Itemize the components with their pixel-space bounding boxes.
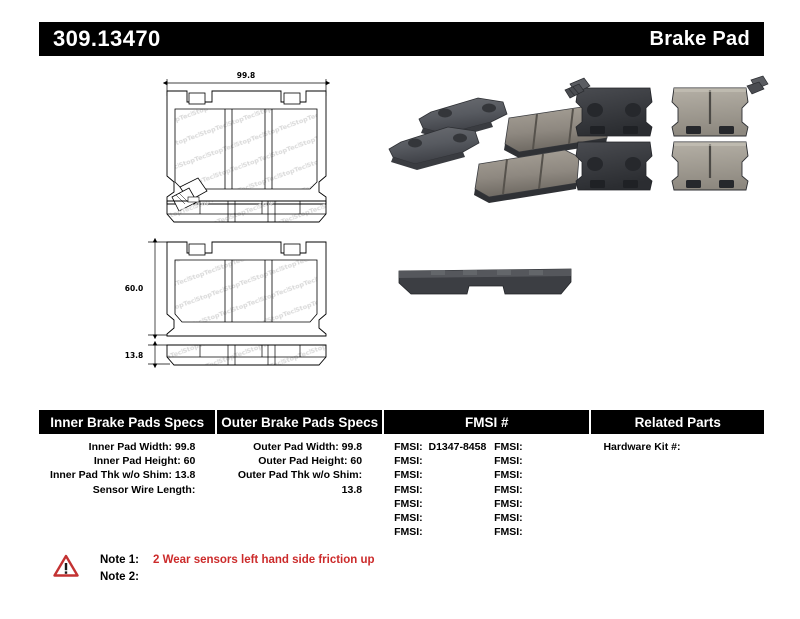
outer-spec-thickness: Outer Pad Thk w/o Shim: 13.8: [217, 468, 362, 496]
fmsi-entry: FMSI:: [394, 511, 494, 525]
dimension-height-label: 60.0: [125, 284, 144, 293]
inner-spec-width: Inner Pad Width: 99.8: [39, 440, 195, 454]
fmsi-entry: FMSI: D1347-8458: [394, 440, 494, 454]
photo-edge-pad: [399, 269, 571, 294]
inner-specs-cell: Inner Pad Width: 99.8 Inner Pad Height: …: [39, 434, 217, 539]
pad-edge-view-bottom: [167, 345, 326, 365]
warning-triangle-icon: [53, 554, 79, 578]
outer-specs-cell: Outer Pad Width: 99.8 Outer Pad Height: …: [217, 434, 384, 539]
technical-drawing: StopTech 99.8: [110, 64, 340, 384]
outer-spec-width: Outer Pad Width: 99.8: [217, 440, 362, 454]
column-header-outer-specs: Outer Brake Pads Specs: [217, 410, 384, 434]
fmsi-entry: FMSI:: [494, 440, 584, 454]
fmsi-entry: FMSI:: [494, 468, 584, 482]
hardware-kit-entry: Hardware Kit #:: [603, 440, 764, 454]
photo-angled-pads: [389, 98, 609, 203]
fmsi-column-right: FMSI: FMSI: FMSI: FMSI: FMSI: FMSI: FMSI…: [494, 440, 584, 539]
table-body-row: Inner Pad Width: 99.8 Inner Pad Height: …: [39, 434, 764, 539]
column-header-fmsi: FMSI #: [384, 410, 591, 434]
photo-flat-pads: [565, 76, 768, 190]
fmsi-entry: FMSI:: [394, 468, 494, 482]
pad-front-view-bottom: [167, 242, 326, 336]
fmsi-column-left: FMSI: D1347-8458 FMSI: FMSI: FMSI: FMSI:…: [394, 440, 494, 539]
fmsi-entry: FMSI:: [494, 511, 584, 525]
fmsi-entry: FMSI:: [394, 483, 494, 497]
product-type-label: Brake Pad: [649, 29, 750, 49]
column-header-inner-specs: Inner Brake Pads Specs: [39, 410, 217, 434]
note-2-row: Note 2:: [100, 569, 375, 586]
note-1-value: 2 Wear sensors left hand side friction u…: [153, 552, 375, 569]
fmsi-entry: FMSI:: [394, 454, 494, 468]
header-bar: 309.13470 Brake Pad: [39, 22, 764, 56]
part-number: 309.13470: [53, 28, 161, 50]
product-photos: [385, 64, 785, 364]
inner-spec-sensor: Sensor Wire Length:: [39, 483, 195, 497]
table-header-row: Inner Brake Pads Specs Outer Brake Pads …: [39, 410, 764, 434]
spec-table: Inner Brake Pads Specs Outer Brake Pads …: [39, 410, 764, 542]
fmsi-entry: FMSI:: [494, 483, 584, 497]
inner-spec-height: Inner Pad Height: 60: [39, 454, 195, 468]
fmsi-entry: FMSI:: [394, 497, 494, 511]
related-parts-cell: Hardware Kit #:: [591, 434, 764, 539]
pad-front-view-top: [167, 91, 326, 211]
outer-spec-height: Outer Pad Height: 60: [217, 454, 362, 468]
note-1-label: Note 1:: [100, 552, 153, 569]
fmsi-entry: FMSI:: [494, 497, 584, 511]
note-2-label: Note 2:: [100, 569, 153, 586]
fmsi-cell: FMSI: D1347-8458 FMSI: FMSI: FMSI: FMSI:…: [384, 434, 591, 539]
inner-spec-thickness: Inner Pad Thk w/o Shim: 13.8: [39, 468, 195, 482]
dimension-thickness-label: 13.8: [125, 351, 144, 360]
dimension-width-label: 99.8: [237, 71, 256, 80]
note-1-row: Note 1: 2 Wear sensors left hand side fr…: [100, 552, 375, 569]
pad-edge-view-top: [167, 197, 326, 222]
column-header-related-parts: Related Parts: [591, 410, 764, 434]
fmsi-entry: FMSI:: [494, 454, 584, 468]
notes-section: Note 1: 2 Wear sensors left hand side fr…: [53, 552, 473, 586]
fmsi-entry: FMSI:: [494, 525, 584, 539]
notes-text: Note 1: 2 Wear sensors left hand side fr…: [100, 552, 375, 586]
fmsi-entry: FMSI:: [394, 525, 494, 539]
